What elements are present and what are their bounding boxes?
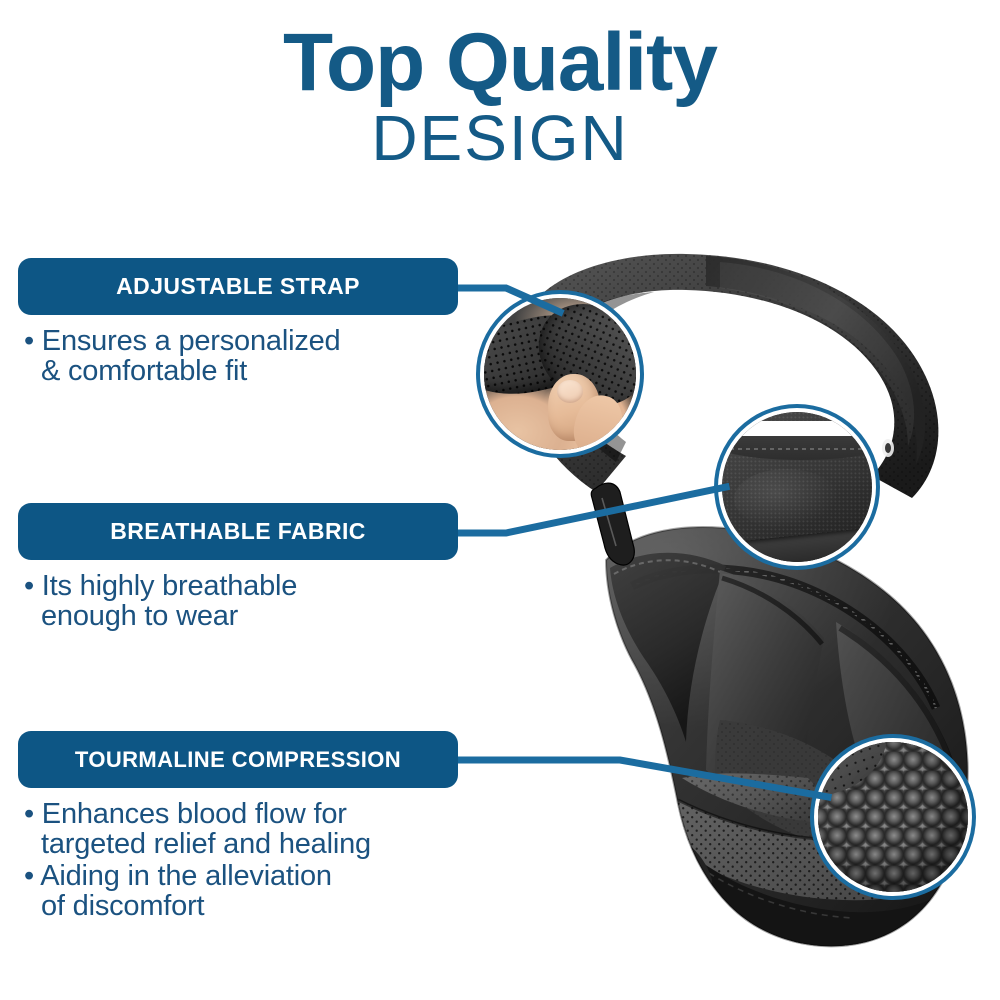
infographic-page: Top Quality DESIGN bbox=[0, 0, 1000, 1000]
callout-adjustable-strap bbox=[484, 298, 636, 450]
thumbnail bbox=[557, 380, 583, 403]
feature-bullet: • Aiding in the alleviation of discomfor… bbox=[24, 862, 458, 921]
callout-tourmaline-compression bbox=[818, 742, 968, 892]
feature-bullet: • Its highly breathable enough to wear bbox=[24, 572, 458, 631]
feature-tourmaline-compression: TOURMALINE COMPRESSION • Enhances blood … bbox=[18, 731, 458, 924]
feature-body-breathable-fabric: • Its highly breathable enough to wear bbox=[18, 572, 458, 631]
feature-header-label: ADJUSTABLE STRAP bbox=[116, 273, 360, 300]
fabric-seam bbox=[722, 448, 872, 450]
callout-breathable-fabric bbox=[722, 412, 872, 562]
feature-header-label: TOURMALINE COMPRESSION bbox=[75, 747, 401, 773]
tourmaline-shading bbox=[818, 742, 968, 892]
feature-header-tourmaline-compression[interactable]: TOURMALINE COMPRESSION bbox=[18, 731, 458, 788]
feature-body-tourmaline-compression: • Enhances blood flow for targeted relie… bbox=[18, 800, 458, 921]
fabric-top-edge bbox=[722, 421, 872, 460]
feature-bullet: • Ensures a personalized & comfortable f… bbox=[24, 327, 458, 386]
feature-header-label: BREATHABLE FABRIC bbox=[110, 518, 366, 545]
feature-body-adjustable-strap: • Ensures a personalized & comfortable f… bbox=[18, 327, 458, 386]
feature-header-adjustable-strap[interactable]: ADJUSTABLE STRAP bbox=[18, 258, 458, 315]
feature-adjustable-strap: ADJUSTABLE STRAP • Ensures a personalize… bbox=[18, 258, 458, 389]
page-title-main: Top Quality bbox=[0, 24, 1000, 102]
feature-bullet: • Enhances blood flow for targeted relie… bbox=[24, 800, 458, 859]
strap-buckle bbox=[591, 483, 634, 565]
feature-breathable-fabric: BREATHABLE FABRIC • Its highly breathabl… bbox=[18, 503, 458, 634]
page-header: Top Quality DESIGN bbox=[0, 24, 1000, 175]
page-title-sub: DESIGN bbox=[0, 102, 1000, 176]
feature-header-breathable-fabric[interactable]: BREATHABLE FABRIC bbox=[18, 503, 458, 560]
fabric-sheen bbox=[734, 469, 839, 529]
